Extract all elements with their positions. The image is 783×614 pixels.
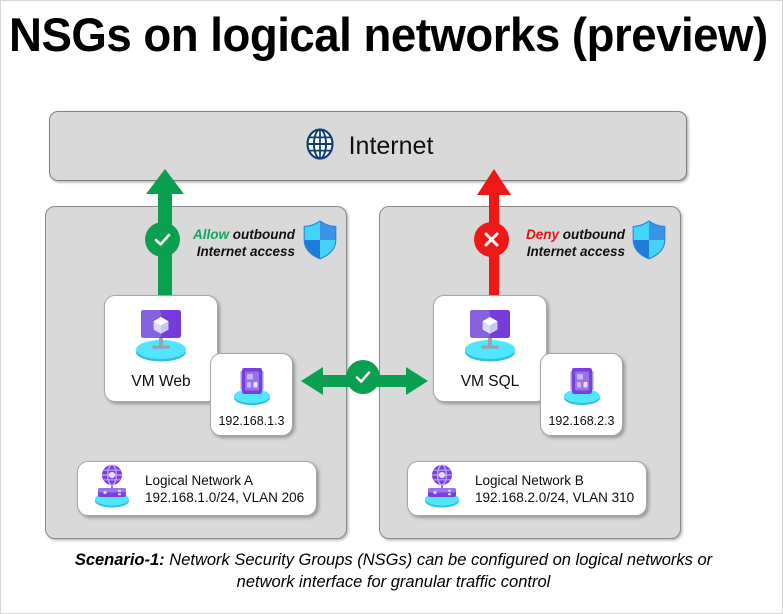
logical-network-subnet: 192.168.2.0/24, VLAN 310 (475, 489, 634, 506)
nic-card-sql[interactable]: 192.168.2.3 (540, 353, 623, 436)
shield-icon (302, 220, 338, 265)
deny-verb: Deny (526, 227, 559, 242)
logical-network-text: Logical Network A 192.168.1.0/24, VLAN 2… (145, 472, 304, 506)
logical-network-name: Logical Network A (145, 472, 304, 489)
logical-network-card-a[interactable]: Logical Network A 192.168.1.0/24, VLAN 2… (77, 461, 317, 516)
slide-canvas: NSGs on logical networks (preview) Inter… (0, 0, 783, 614)
scenario-caption-lead: Scenario-1: (75, 551, 165, 569)
globe-icon (303, 127, 337, 166)
allow-rule-label: Allow outbound Internet access (161, 226, 295, 260)
allow-rule-line2: Internet access (197, 244, 295, 259)
virtual-machine-icon (459, 306, 521, 369)
nic-card-web[interactable]: 192.168.1.3 (210, 353, 293, 436)
network-interface-icon (228, 361, 276, 412)
nic-ip-label: 192.168.1.3 (218, 414, 284, 428)
internet-label: Internet (349, 132, 434, 161)
allow-verb: Allow (193, 227, 229, 242)
scenario-caption: Scenario-1: Network Security Groups (NSG… (61, 549, 726, 593)
peering-status-badge (346, 360, 380, 394)
logical-network-icon (420, 463, 464, 514)
vm-card-sql[interactable]: VM SQL (433, 295, 547, 402)
deny-rule-rest: outbound (559, 227, 625, 242)
logical-network-text: Logical Network B 192.168.2.0/24, VLAN 3… (475, 472, 634, 506)
allow-rule-rest: outbound (229, 227, 295, 242)
page-title: NSGs on logical networks (preview) (9, 7, 756, 63)
virtual-machine-icon (130, 306, 192, 369)
logical-network-card-b[interactable]: Logical Network B 192.168.2.0/24, VLAN 3… (407, 461, 647, 516)
nic-ip-label: 192.168.2.3 (548, 414, 614, 428)
vm-card-web[interactable]: VM Web (104, 295, 218, 402)
scenario-caption-text: Network Security Groups (NSGs) can be co… (165, 551, 712, 591)
logical-network-name: Logical Network B (475, 472, 634, 489)
logical-network-icon (90, 463, 134, 514)
deny-rule-line2: Internet access (527, 244, 625, 259)
shield-icon (631, 220, 667, 265)
logical-network-subnet: 192.168.1.0/24, VLAN 206 (145, 489, 304, 506)
network-interface-icon (558, 361, 606, 412)
vm-label: VM Web (131, 373, 190, 391)
deny-rule-label: Deny outbound Internet access (491, 226, 625, 260)
vm-label: VM SQL (461, 373, 520, 391)
